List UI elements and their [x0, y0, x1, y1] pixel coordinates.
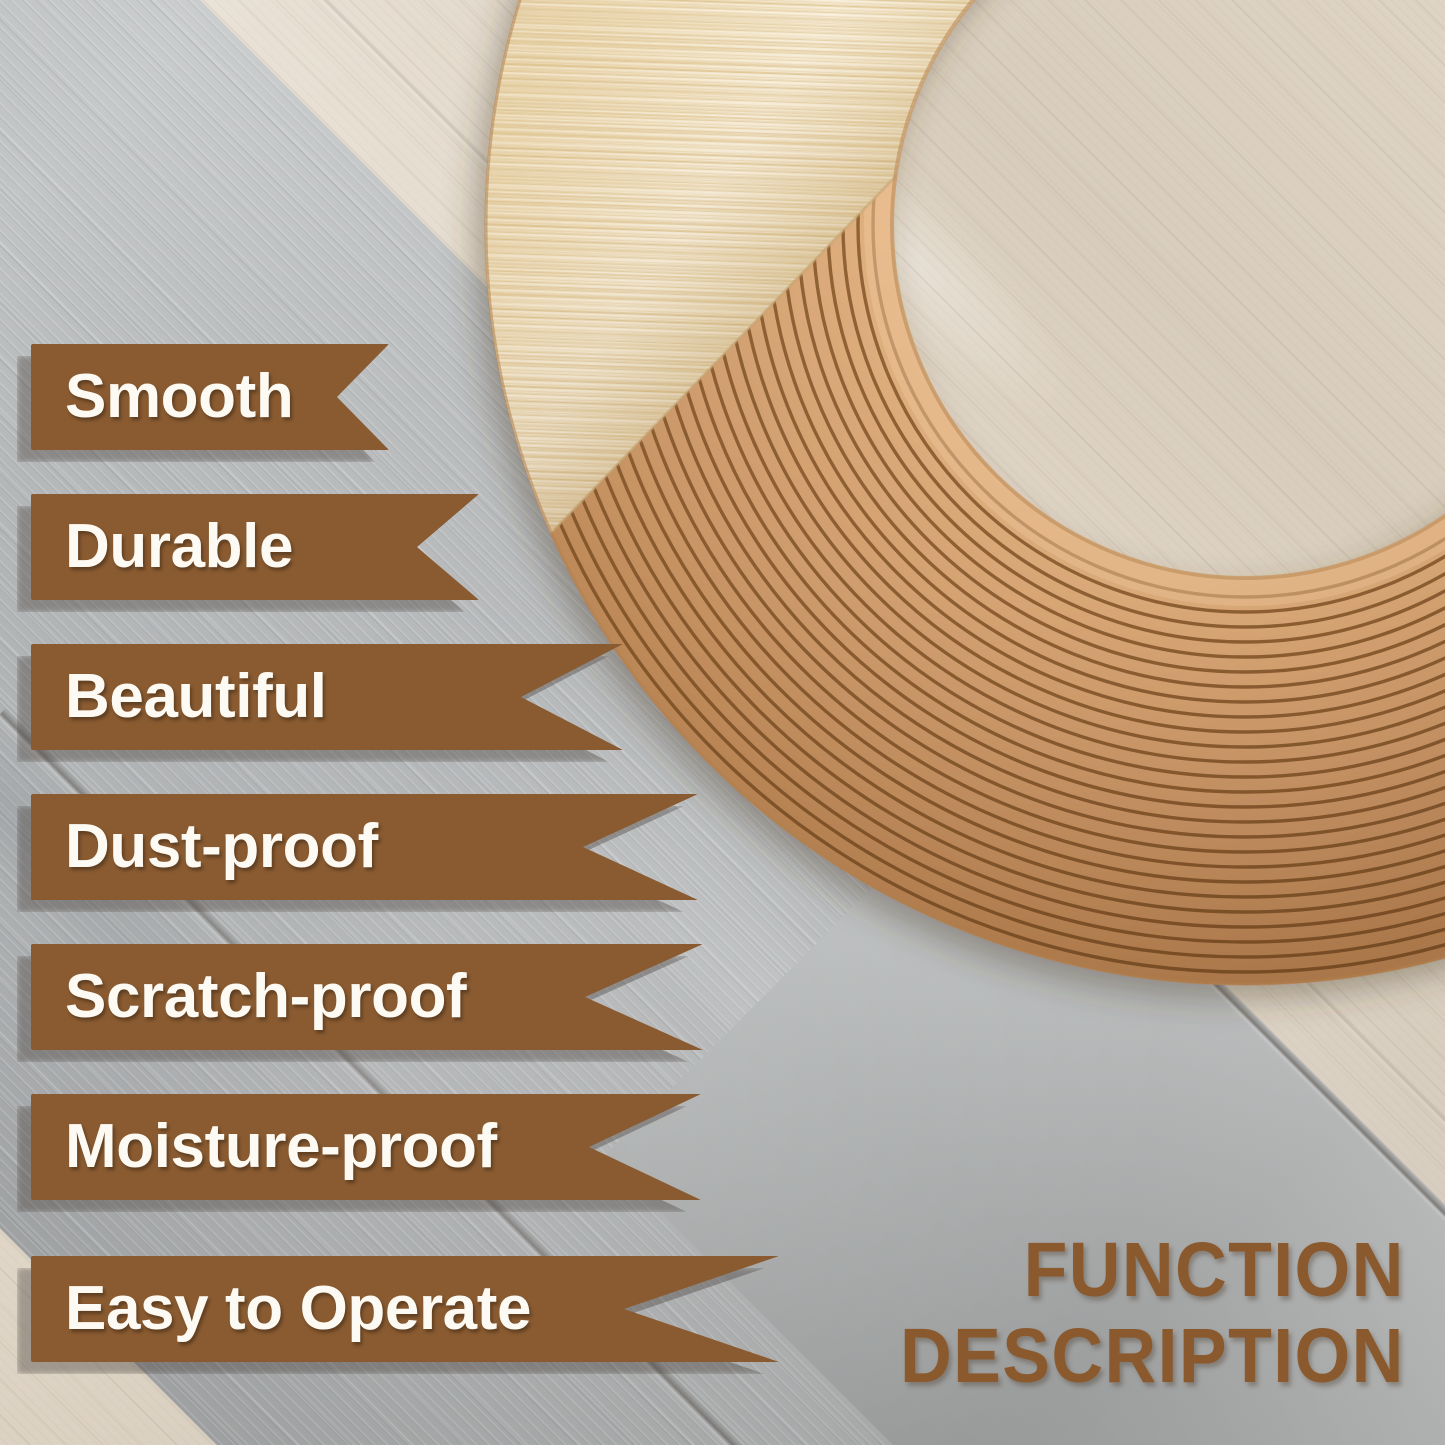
feature-label: Smooth [31, 366, 293, 428]
feature-label: Beautiful [31, 666, 327, 728]
feature-ribbon[interactable]: Easy to Operate [31, 1256, 779, 1362]
feature-ribbon[interactable]: Dust-proof [31, 794, 698, 900]
feature-ribbon[interactable]: Durable [31, 494, 479, 600]
feature-ribbon[interactable]: Beautiful [31, 644, 623, 750]
infographic-canvas: Smooth Durable Beautiful Dust-proof Scra… [0, 0, 1445, 1445]
title-line-1: FUNCTION [900, 1227, 1405, 1313]
feature-ribbon[interactable]: Smooth [31, 344, 389, 450]
function-description-title: FUNCTION DESCRIPTION [900, 1227, 1405, 1399]
feature-label: Moisture-proof [31, 1116, 497, 1178]
feature-label: Dust-proof [31, 816, 378, 878]
feature-ribbon[interactable]: Scratch-proof [31, 944, 703, 1050]
feature-label: Scratch-proof [31, 966, 466, 1028]
feature-label: Easy to Operate [31, 1278, 531, 1340]
title-line-2: DESCRIPTION [900, 1313, 1405, 1399]
feature-ribbon[interactable]: Moisture-proof [31, 1094, 701, 1200]
feature-label: Durable [31, 516, 293, 578]
